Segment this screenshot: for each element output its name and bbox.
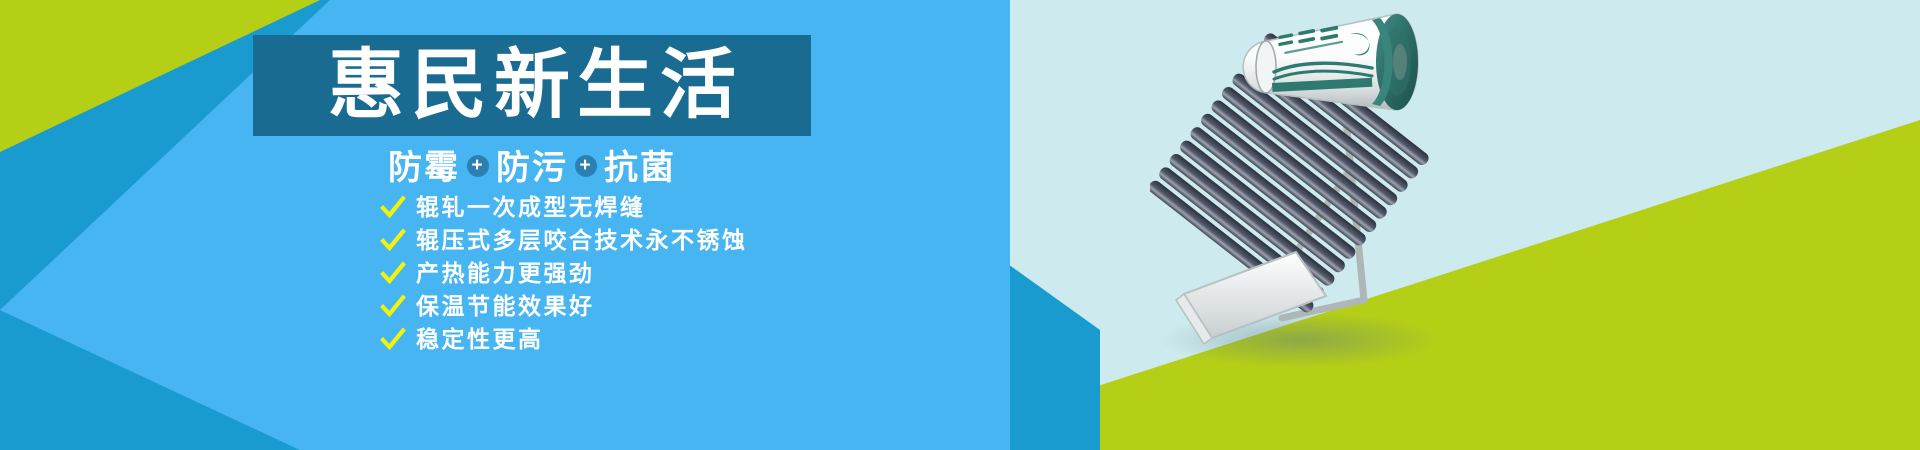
check-icon	[380, 294, 406, 320]
feature-label: 产热能力更强劲	[416, 262, 595, 285]
promo-banner: 惠民新生活 防霉 + 防污 + 抗菌 辊轧一次成型无焊缝 辊压式多层咬合技术永不…	[0, 0, 1920, 450]
feature-list: 辊轧一次成型无焊缝 辊压式多层咬合技术永不锈蚀 产热能力更强劲 保温节能效果好	[380, 192, 1000, 357]
feature-item: 产热能力更强劲	[380, 258, 1000, 289]
page-title: 惠民新生活	[321, 48, 743, 124]
title-plate: 惠民新生活	[253, 35, 811, 136]
subtitle-row: 防霉 + 防污 + 抗菌	[253, 140, 811, 189]
plus-icon-2: +	[575, 155, 597, 177]
feature-item: 辊压式多层咬合技术永不锈蚀	[380, 225, 1000, 256]
feature-label: 稳定性更高	[416, 328, 544, 351]
check-icon	[380, 195, 406, 221]
feature-label: 辊轧一次成型无焊缝	[416, 196, 646, 219]
solar-water-heater-image	[1150, 0, 1480, 370]
feature-label: 保温节能效果好	[416, 295, 595, 318]
feature-item: 辊轧一次成型无焊缝	[380, 192, 1000, 223]
check-icon	[380, 261, 406, 287]
feature-item: 保温节能效果好	[380, 291, 1000, 322]
subtitle-part-1: 防霉	[388, 140, 460, 189]
banner-content: 惠民新生活 防霉 + 防污 + 抗菌 辊轧一次成型无焊缝 辊压式多层咬合技术永不…	[0, 0, 1010, 450]
subtitle-part-3: 抗菌	[604, 140, 676, 189]
plus-icon-1: +	[467, 155, 489, 177]
feature-item: 稳定性更高	[380, 324, 1000, 355]
check-icon	[380, 228, 406, 254]
subtitle-part-2: 防污	[496, 140, 568, 189]
feature-label: 辊压式多层咬合技术永不锈蚀	[416, 229, 748, 252]
check-icon	[380, 327, 406, 353]
